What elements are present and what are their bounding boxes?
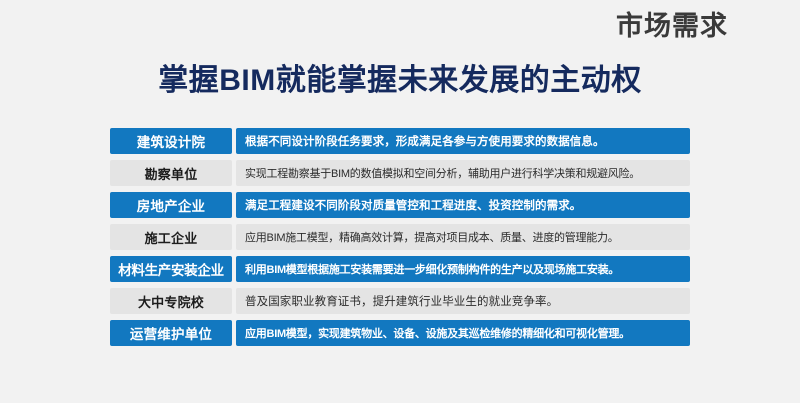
row-label: 建筑设计院	[110, 128, 232, 154]
table-row: 施工企业 应用BIM施工模型，精确高效计算，提高对项目成本、质量、进度的管理能力…	[110, 224, 690, 250]
row-label: 房地产企业	[110, 192, 232, 218]
row-description: 普及国家职业教育证书，提升建筑行业毕业生的就业竞争率。	[236, 288, 690, 314]
table-row: 大中专院校 普及国家职业教育证书，提升建筑行业毕业生的就业竞争率。	[110, 288, 690, 314]
row-description: 应用BIM模型，实现建筑物业、设备、设施及其巡检维修的精细化和可视化管理。	[236, 320, 690, 346]
page-title: 掌握BIM就能掌握未来发展的主动权	[0, 63, 800, 99]
row-label: 运营维护单位	[110, 320, 232, 346]
slide-canvas: 市场需求 掌握BIM就能掌握未来发展的主动权 建筑设计院 根据不同设计阶段任务要…	[0, 0, 800, 403]
table-row: 材料生产安装企业 利用BIM模型根据施工安装需要进一步细化预制构件的生产以及现场…	[110, 256, 690, 282]
section-heading: 市场需求	[616, 12, 728, 42]
row-description: 应用BIM施工模型，精确高效计算，提高对项目成本、质量、进度的管理能力。	[236, 224, 690, 250]
table-row: 勘察单位 实现工程勘察基于BIM的数值模拟和空间分析，辅助用户进行科学决策和规避…	[110, 160, 690, 186]
row-label: 材料生产安装企业	[110, 256, 232, 282]
row-description: 利用BIM模型根据施工安装需要进一步细化预制构件的生产以及现场施工安装。	[236, 256, 690, 282]
row-description: 满足工程建设不同阶段对质量管控和工程进度、投资控制的需求。	[236, 192, 690, 218]
row-description: 根据不同设计阶段任务要求，形成满足各参与方使用要求的数据信息。	[236, 128, 690, 154]
table-row: 建筑设计院 根据不同设计阶段任务要求，形成满足各参与方使用要求的数据信息。	[110, 128, 690, 154]
row-description: 实现工程勘察基于BIM的数值模拟和空间分析，辅助用户进行科学决策和规避风险。	[236, 160, 690, 186]
table-row: 房地产企业 满足工程建设不同阶段对质量管控和工程进度、投资控制的需求。	[110, 192, 690, 218]
row-label: 大中专院校	[110, 288, 232, 314]
table-row: 运营维护单位 应用BIM模型，实现建筑物业、设备、设施及其巡检维修的精细化和可视…	[110, 320, 690, 346]
stakeholder-benefit-table: 建筑设计院 根据不同设计阶段任务要求，形成满足各参与方使用要求的数据信息。 勘察…	[110, 128, 690, 346]
row-label: 勘察单位	[110, 160, 232, 186]
row-label: 施工企业	[110, 224, 232, 250]
